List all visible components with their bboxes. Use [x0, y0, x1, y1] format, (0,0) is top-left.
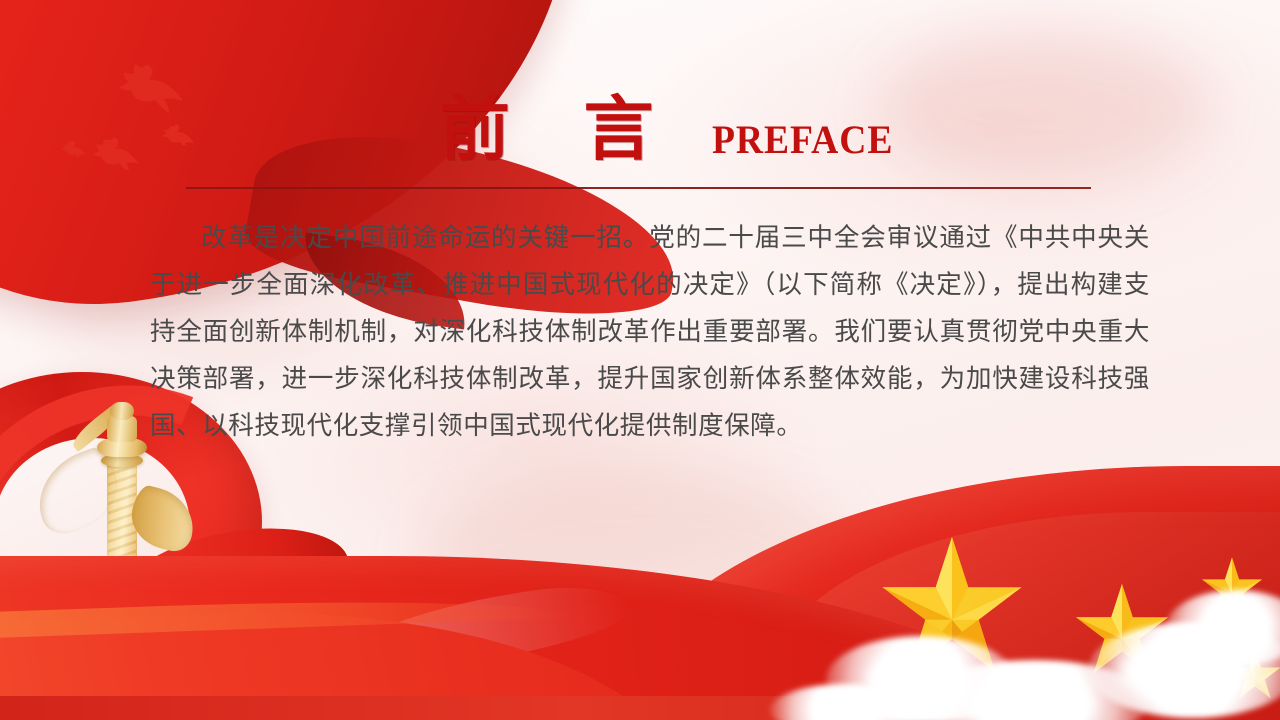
- body-paragraph: 改革是决定中国前途命运的关键一招。党的二十届三中全会审议通过《中共中央关于进一步…: [150, 214, 1150, 449]
- preface-slide: 前 言 PREFACE 改革是决定中国前途命运的关键一招。党的二十届三中全会审议…: [0, 0, 1280, 720]
- title-english: PREFACE: [712, 120, 893, 160]
- slide-title: 前 言 PREFACE: [440, 96, 904, 166]
- slide-content: 前 言 PREFACE 改革是决定中国前途命运的关键一招。党的二十届三中全会审议…: [0, 0, 1280, 720]
- title-divider-rule: [186, 187, 1091, 189]
- title-chinese: 前 言: [440, 96, 682, 166]
